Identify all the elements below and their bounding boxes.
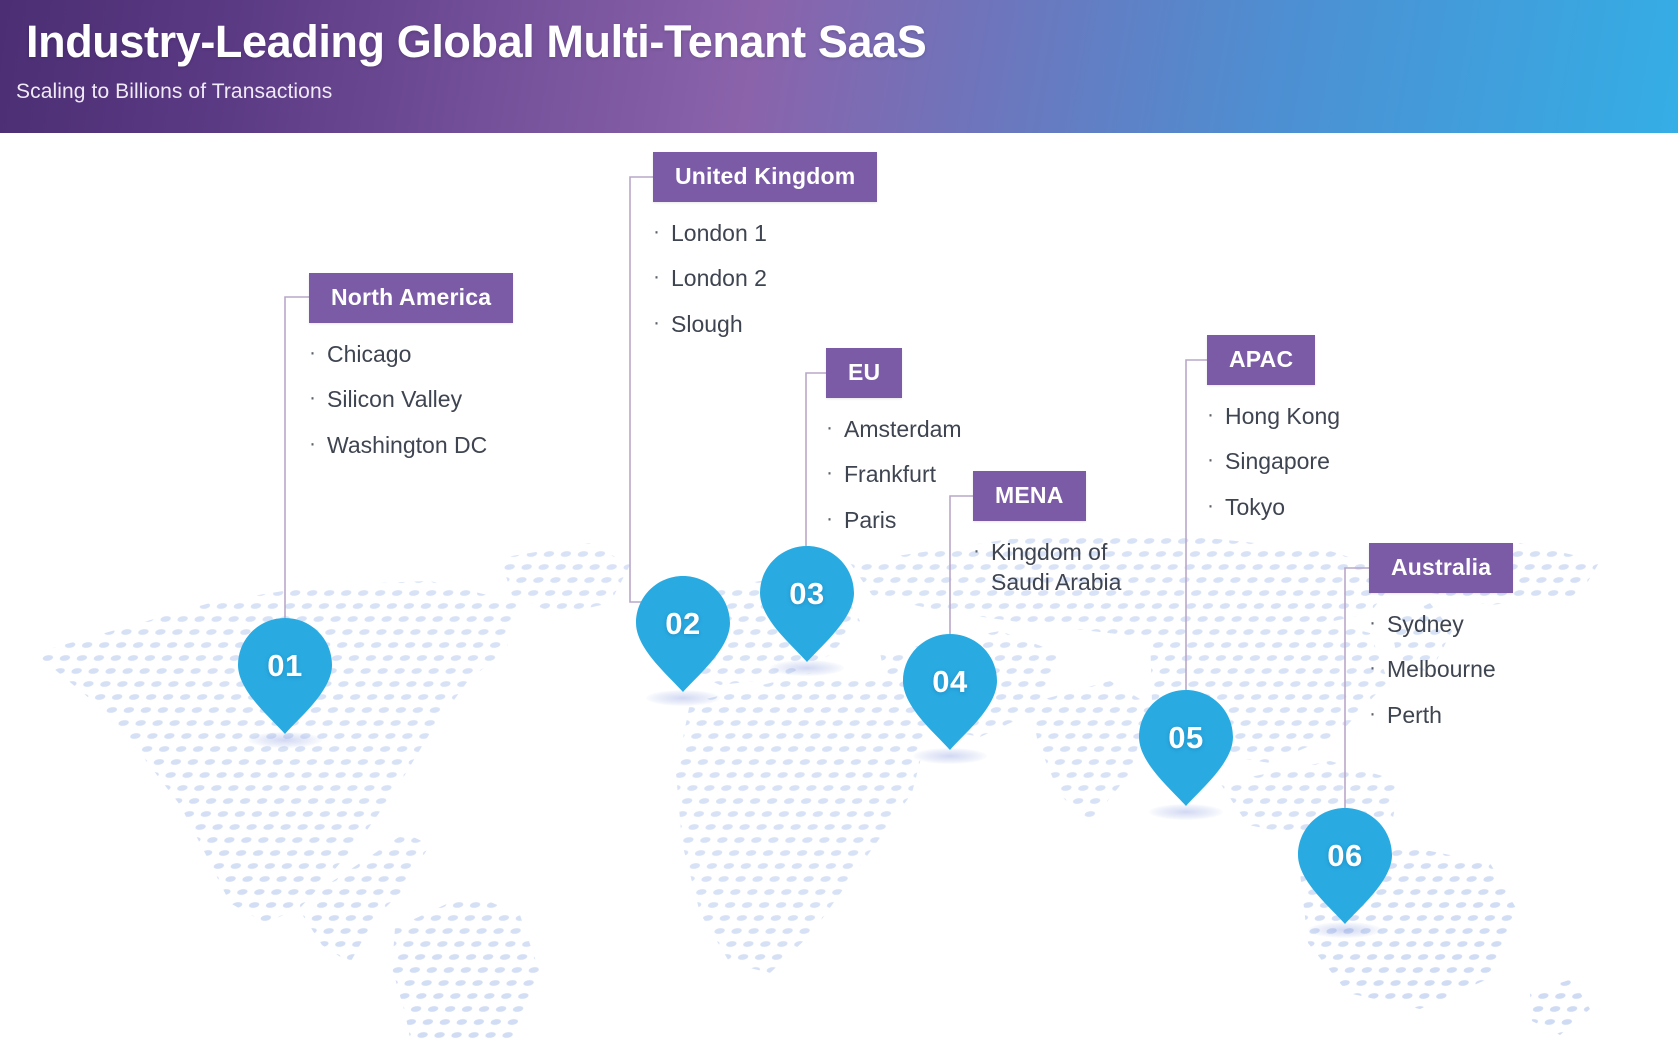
list-item: ·Perth bbox=[1369, 700, 1513, 730]
callout-apac[interactable]: APAC ·Hong Kong ·Singapore ·Tokyo bbox=[1207, 335, 1340, 537]
list-item-label: Sydney bbox=[1387, 609, 1464, 639]
bullet-icon: · bbox=[826, 505, 833, 533]
list-item-label: Silicon Valley bbox=[327, 384, 462, 414]
bullet-icon: · bbox=[1207, 446, 1214, 474]
list-item-label: Slough bbox=[671, 309, 743, 339]
map-pin-02[interactable]: 02 bbox=[636, 576, 730, 700]
list-item-label: Melbourne bbox=[1387, 654, 1496, 684]
map-pin-03[interactable]: 03 bbox=[760, 546, 854, 670]
pin-number: 01 bbox=[238, 648, 332, 684]
connector-north-america bbox=[285, 297, 309, 625]
list-item: ·London 2 bbox=[653, 263, 877, 293]
list-item: ·Hong Kong bbox=[1207, 401, 1340, 431]
list-item: ·Silicon Valley bbox=[309, 384, 513, 414]
list-item: ·Sydney bbox=[1369, 609, 1513, 639]
pin-number: 02 bbox=[636, 606, 730, 642]
bullet-icon: · bbox=[653, 218, 660, 246]
bullet-icon: · bbox=[309, 430, 316, 458]
bullet-icon: · bbox=[826, 414, 833, 442]
list-item-label: Frankfurt bbox=[844, 459, 936, 489]
region-badge-mena[interactable]: MENA bbox=[973, 471, 1086, 521]
list-item-label: Chicago bbox=[327, 339, 411, 369]
list-item-label: Perth bbox=[1387, 700, 1442, 730]
region-badge-australia[interactable]: Australia bbox=[1369, 543, 1513, 593]
bullet-icon: · bbox=[1369, 654, 1376, 682]
connector-eu bbox=[806, 373, 826, 575]
callout-eu[interactable]: EU ·Amsterdam ·Frankfurt ·Paris bbox=[826, 348, 962, 550]
pin-shadow bbox=[646, 690, 720, 706]
bullet-icon: · bbox=[653, 309, 660, 337]
region-badge-united-kingdom[interactable]: United Kingdom bbox=[653, 152, 877, 202]
region-list-australia: ·Sydney ·Melbourne ·Perth bbox=[1369, 609, 1513, 730]
pin-number: 04 bbox=[903, 664, 997, 700]
callout-australia[interactable]: Australia ·Sydney ·Melbourne ·Perth bbox=[1369, 543, 1513, 745]
list-item-label: Singapore bbox=[1225, 446, 1330, 476]
map-pin-04[interactable]: 04 bbox=[903, 634, 997, 758]
list-item: ·Singapore bbox=[1207, 446, 1340, 476]
region-list-united-kingdom: ·London 1 ·London 2 ·Slough bbox=[653, 218, 877, 339]
region-badge-eu[interactable]: EU bbox=[826, 348, 902, 398]
bullet-icon: · bbox=[653, 263, 660, 291]
map-pin-05[interactable]: 05 bbox=[1139, 690, 1233, 814]
list-item-label: Washington DC bbox=[327, 430, 487, 460]
bullet-icon: · bbox=[1207, 401, 1214, 429]
list-item-label: Tokyo bbox=[1225, 492, 1285, 522]
region-badge-apac[interactable]: APAC bbox=[1207, 335, 1315, 385]
list-item: ·Tokyo bbox=[1207, 492, 1340, 522]
callout-north-america[interactable]: North America ·Chicago ·Silicon Valley ·… bbox=[309, 273, 513, 475]
list-item: ·Washington DC bbox=[309, 430, 513, 460]
region-list-north-america: ·Chicago ·Silicon Valley ·Washington DC bbox=[309, 339, 513, 460]
list-item-label: London 2 bbox=[671, 263, 767, 293]
pin-shadow bbox=[248, 732, 322, 748]
bullet-icon: · bbox=[1207, 492, 1214, 520]
list-item-label: Paris bbox=[844, 505, 896, 535]
callout-united-kingdom[interactable]: United Kingdom ·London 1 ·London 2 ·Slou… bbox=[653, 152, 877, 354]
pin-shadow bbox=[1149, 804, 1223, 820]
bullet-icon: · bbox=[973, 537, 980, 565]
callout-mena[interactable]: MENA ·Kingdom of Saudi Arabia bbox=[973, 471, 1121, 613]
list-item: ·London 1 bbox=[653, 218, 877, 248]
bullet-icon: · bbox=[1369, 609, 1376, 637]
pin-number: 06 bbox=[1298, 838, 1392, 874]
list-item: ·Chicago bbox=[309, 339, 513, 369]
bullet-icon: · bbox=[309, 339, 316, 367]
list-item: ·Melbourne bbox=[1369, 654, 1513, 684]
bullet-icon: · bbox=[1369, 700, 1376, 728]
pin-number: 03 bbox=[760, 576, 854, 612]
list-item-label: Amsterdam bbox=[844, 414, 962, 444]
list-item: ·Paris bbox=[826, 505, 962, 535]
map-pin-01[interactable]: 01 bbox=[238, 618, 332, 742]
connector-australia bbox=[1345, 568, 1369, 834]
pin-shadow bbox=[770, 660, 844, 676]
list-item-label: Hong Kong bbox=[1225, 401, 1340, 431]
region-badge-north-america[interactable]: North America bbox=[309, 273, 513, 323]
list-item: ·Kingdom of Saudi Arabia bbox=[973, 537, 1121, 598]
map-pin-06[interactable]: 06 bbox=[1298, 808, 1392, 932]
connector-apac bbox=[1186, 360, 1207, 716]
list-item-label: Kingdom of Saudi Arabia bbox=[991, 537, 1121, 598]
bullet-icon: · bbox=[826, 459, 833, 487]
list-item: ·Amsterdam bbox=[826, 414, 962, 444]
pin-shadow bbox=[913, 748, 987, 764]
region-list-mena: ·Kingdom of Saudi Arabia bbox=[973, 537, 1121, 598]
list-item: ·Frankfurt bbox=[826, 459, 962, 489]
list-item-label: London 1 bbox=[671, 218, 767, 248]
pin-shadow bbox=[1308, 922, 1382, 938]
pin-number: 05 bbox=[1139, 720, 1233, 756]
list-item: ·Slough bbox=[653, 309, 877, 339]
bullet-icon: · bbox=[309, 384, 316, 412]
region-list-apac: ·Hong Kong ·Singapore ·Tokyo bbox=[1207, 401, 1340, 522]
region-list-eu: ·Amsterdam ·Frankfurt ·Paris bbox=[826, 414, 962, 535]
